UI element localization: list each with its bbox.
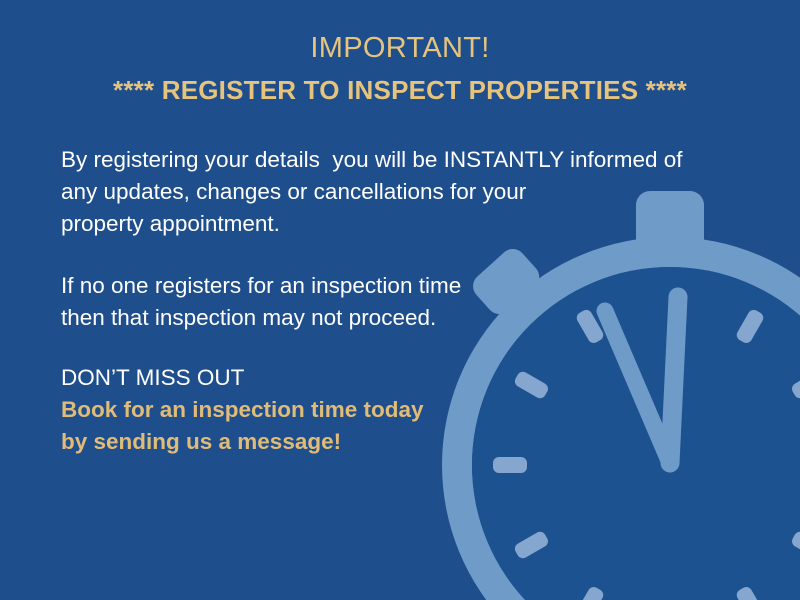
paragraph-spacer-1 [61,240,721,270]
cta-dont-miss-out: DON’T MISS OUT [61,362,721,394]
headline-block: IMPORTANT! **** REGISTER TO INSPECT PROP… [0,30,800,107]
body-block: By registering your details you will be … [61,144,721,458]
cta-send-message: by sending us a message! [61,426,721,458]
slide-text-content: IMPORTANT! **** REGISTER TO INSPECT PROP… [0,0,800,600]
paragraph2-line1: If no one registers for an inspection ti… [61,270,721,302]
paragraph-registering: By registering your details you will be … [61,144,721,240]
paragraph-spacer-2 [61,334,721,362]
slide-canvas: IMPORTANT! **** REGISTER TO INSPECT PROP… [0,0,800,600]
paragraph1-line2: any updates, changes or cancellations fo… [61,176,721,208]
paragraph2-line2: then that inspection may not proceed. [61,302,721,334]
paragraph-call-to-action: DON’T MISS OUT Book for an inspection ti… [61,362,721,458]
headline-secondary: **** REGISTER TO INSPECT PROPERTIES **** [0,73,800,107]
headline-primary: IMPORTANT! [0,30,800,66]
paragraph-no-registrations: If no one registers for an inspection ti… [61,270,721,334]
paragraph1-line1: By registering your details you will be … [61,144,721,176]
paragraph1-line3: property appointment. [61,208,721,240]
cta-book-inspection: Book for an inspection time today [61,394,721,426]
